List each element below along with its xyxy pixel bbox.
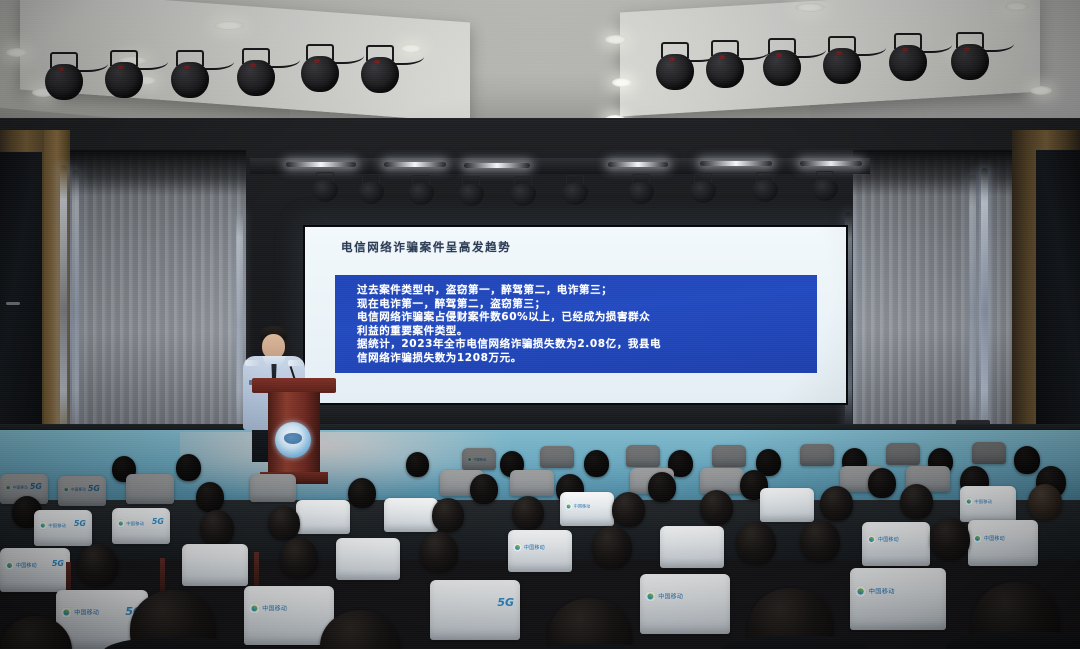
audience-head bbox=[432, 498, 464, 532]
audience-chair: 中国移动 5G bbox=[34, 510, 92, 546]
audience-chair bbox=[126, 474, 174, 504]
china-mobile-logo-icon bbox=[867, 535, 876, 544]
audience-head bbox=[584, 450, 609, 477]
chair-5g-label: 5G bbox=[88, 484, 100, 493]
slide-content-box: 过去案件类型中，盗窃第一，醉驾第二，电诈第三； 现在电诈第一，醉驾第二，盗窃第三… bbox=[335, 275, 817, 373]
china-mobile-logo-icon bbox=[117, 519, 125, 527]
audience-head bbox=[200, 510, 234, 546]
audience-shoulders bbox=[722, 636, 870, 649]
chair-brand-label: 中国移动 bbox=[74, 608, 99, 616]
chair-5g-label: 5G bbox=[497, 596, 514, 609]
chair-brand-label: 中国移动 bbox=[13, 485, 28, 490]
audience-head bbox=[78, 544, 118, 586]
slide-title: 电信网络诈骗案件呈高发趋势 bbox=[341, 239, 511, 255]
audience-chair bbox=[540, 446, 574, 468]
truss-glow-1 bbox=[286, 162, 356, 167]
china-mobile-logo-icon bbox=[63, 486, 69, 492]
audience-chair bbox=[972, 442, 1006, 464]
chair-brand-label: 中国移动 bbox=[974, 498, 992, 504]
auditorium-scene: 电信网络诈骗案件呈高发趋势 过去案件类型中，盗窃第一，醉驾第二，电诈第三； 现在… bbox=[0, 0, 1080, 649]
china-mobile-logo-icon bbox=[855, 585, 866, 596]
china-mobile-logo-icon bbox=[61, 607, 72, 618]
slide-body-line: 信网络诈骗损失数为1208万元。 bbox=[357, 352, 817, 366]
audience-head bbox=[268, 506, 300, 540]
chair-leg bbox=[254, 552, 259, 590]
truss-glow-5 bbox=[700, 161, 772, 166]
stage-light-icon bbox=[762, 38, 802, 90]
audience-chair: 中国移动 bbox=[508, 530, 572, 572]
china-mobile-logo-icon bbox=[39, 521, 47, 529]
wall-strip-light-left-2 bbox=[72, 170, 79, 450]
audience-head bbox=[736, 522, 776, 564]
stage-light-icon bbox=[950, 32, 990, 84]
presenter-epaulet-left bbox=[245, 360, 260, 366]
audience-chair: 中国移动 5G bbox=[112, 508, 170, 544]
audience-chair bbox=[800, 444, 834, 466]
slide-body-line: 电信网络诈骗案占侵财案件数60%以上，已经成为损害群众 bbox=[357, 311, 817, 325]
audience-head bbox=[900, 484, 933, 519]
stage-light-icon bbox=[458, 176, 484, 206]
chair-5g-label: 5G bbox=[152, 517, 164, 526]
chair-brand-label: 中国移动 bbox=[984, 535, 1005, 542]
china-mobile-logo-icon bbox=[513, 543, 522, 552]
ceiling-downlight-icon bbox=[1005, 2, 1029, 11]
stage-light-icon bbox=[812, 171, 838, 201]
chair-brand-label: 中国移动 bbox=[126, 520, 144, 526]
audience-head bbox=[648, 472, 676, 502]
projection-screen: 电信网络诈骗案件呈高发趋势 过去案件类型中，盗窃第一，醉驾第二，电诈第三； 现在… bbox=[303, 225, 848, 405]
audience-head bbox=[406, 452, 429, 477]
stage-light-icon bbox=[822, 36, 862, 88]
audience-chair bbox=[182, 544, 248, 586]
chair-brand-label: 中国移动 bbox=[878, 536, 899, 543]
audience-seating: 中国移动 中国移动 5G 中国移动 5G bbox=[0, 440, 1080, 649]
chair-5g-label: 5G bbox=[52, 559, 64, 568]
audience-head bbox=[548, 598, 632, 649]
china-mobile-logo-icon bbox=[5, 561, 14, 570]
stage-light-icon bbox=[510, 176, 536, 206]
stage-light-icon bbox=[705, 40, 745, 92]
audience-head bbox=[176, 454, 201, 481]
audience-head bbox=[512, 496, 544, 530]
audience-chair bbox=[760, 488, 814, 522]
audience-chair bbox=[250, 474, 296, 502]
audience-head bbox=[612, 492, 645, 527]
stage-light-icon bbox=[628, 174, 654, 204]
china-mobile-logo-icon bbox=[249, 603, 260, 614]
stage-light-icon bbox=[170, 50, 210, 102]
chair-brand-label: 中国移动 bbox=[262, 604, 287, 612]
stage-light-icon bbox=[408, 175, 434, 205]
ceiling-downlight-icon bbox=[612, 78, 632, 87]
audience-head bbox=[470, 474, 498, 504]
audience-chair bbox=[336, 538, 400, 580]
audience-chair: 中国移动 bbox=[968, 520, 1038, 566]
china-mobile-logo-icon bbox=[645, 591, 656, 602]
audience-head bbox=[930, 518, 970, 560]
slide-body-line: 利益的重要案件类型。 bbox=[357, 325, 817, 339]
wall-strip-light-right-2 bbox=[969, 175, 976, 445]
audience-head bbox=[1014, 446, 1040, 474]
chair-brand-label: 中国移动 bbox=[574, 504, 591, 510]
stage-light-icon bbox=[690, 173, 716, 203]
ceiling-downlight-icon bbox=[605, 35, 627, 44]
china-mobile-logo-icon bbox=[565, 503, 572, 510]
audience-head bbox=[700, 490, 733, 525]
audience-head bbox=[820, 486, 853, 521]
truss-glow-3 bbox=[464, 163, 530, 168]
curtain-top-shadow-left bbox=[66, 150, 246, 196]
presenter-epaulet-right bbox=[288, 360, 303, 366]
chair-brand-label: 中国移动 bbox=[16, 562, 37, 569]
stage-light-icon bbox=[358, 174, 384, 204]
stage-light-icon bbox=[888, 33, 928, 85]
chair-5g-label: 5G bbox=[30, 482, 42, 491]
chair-brand-label: 中国移动 bbox=[869, 587, 895, 596]
stage-light-icon bbox=[360, 45, 400, 97]
audience-chair: 中国移动 bbox=[960, 486, 1016, 522]
presentation-slide: 电信网络诈骗案件呈高发趋势 过去案件类型中，盗窃第一，醉驾第二，电诈第三； 现在… bbox=[305, 227, 846, 403]
truss-glow-2 bbox=[384, 162, 446, 167]
stage-light-icon bbox=[104, 50, 144, 102]
audience-chair bbox=[510, 470, 554, 496]
audience-chair bbox=[384, 498, 438, 532]
stage-light-icon bbox=[752, 172, 778, 202]
china-mobile-logo-icon bbox=[965, 497, 973, 505]
wall-strip-light-left bbox=[60, 165, 67, 455]
china-mobile-logo-icon bbox=[467, 456, 472, 461]
audience-chair bbox=[296, 500, 350, 534]
audience-chair: 中国移动 bbox=[862, 522, 930, 566]
slide-body-line: 现在电诈第一，醉驾第二，盗窃第三； bbox=[357, 298, 817, 312]
ceiling-downlight-icon bbox=[214, 21, 244, 30]
audience-shoulders bbox=[946, 632, 1080, 649]
audience-chair: 中国移动 bbox=[560, 492, 614, 526]
audience-head bbox=[800, 520, 840, 562]
china-mobile-logo-icon bbox=[5, 484, 11, 490]
truss-glow-4 bbox=[608, 162, 668, 167]
china-mobile-logo-icon bbox=[973, 534, 982, 543]
audience-shoulders bbox=[524, 644, 664, 649]
stage-light-icon bbox=[236, 48, 276, 100]
stage-light-icon bbox=[300, 44, 340, 96]
ceiling-downlight-icon bbox=[795, 3, 825, 12]
truss-glow-6 bbox=[800, 161, 862, 166]
wall-strip-light-right bbox=[981, 168, 988, 453]
audience-chair: 中国移动 bbox=[640, 574, 730, 634]
chair-5g-label: 5G bbox=[74, 519, 86, 528]
audience-chair bbox=[626, 445, 660, 467]
ceiling-downlight-icon bbox=[6, 48, 28, 57]
curtain-top-shadow-right bbox=[853, 150, 1018, 196]
audience-head bbox=[280, 538, 318, 578]
audience-chair: 中国移动 5G bbox=[0, 548, 70, 592]
audience-chair: 5G bbox=[430, 580, 520, 640]
audience-head bbox=[196, 482, 224, 512]
stage-light-icon bbox=[655, 42, 695, 94]
audience-chair bbox=[886, 443, 920, 465]
audience-chair: 中国移动 5G bbox=[58, 476, 106, 506]
audience-head bbox=[868, 468, 896, 498]
audience-chair bbox=[660, 526, 724, 568]
chair-brand-label: 中国移动 bbox=[524, 544, 545, 551]
chair-brand-label: 中国移动 bbox=[71, 487, 86, 492]
stage-light-icon bbox=[44, 52, 84, 104]
podium-top bbox=[252, 378, 336, 393]
door-right[interactable] bbox=[1036, 150, 1080, 450]
audience-chair: 中国移动 bbox=[850, 568, 946, 630]
audience-head bbox=[1028, 484, 1062, 520]
stage-light-icon bbox=[562, 175, 588, 205]
chair-brand-label: 中国移动 bbox=[48, 522, 66, 528]
audience-head bbox=[420, 532, 458, 572]
slide-body-line: 过去案件类型中，盗窃第一，醉驾第二，电诈第三； bbox=[357, 284, 817, 298]
stage-light-icon bbox=[312, 172, 338, 202]
audience-head bbox=[592, 526, 632, 568]
audience-head bbox=[348, 478, 376, 508]
audience-chair bbox=[712, 445, 746, 467]
door-left[interactable] bbox=[0, 152, 42, 452]
ceiling-downlight-icon bbox=[1030, 86, 1052, 95]
slide-body-line: 据统计，2023年全市电信网络诈骗损失数为2.08亿，我县电 bbox=[357, 338, 817, 352]
chair-brand-label: 中国移动 bbox=[474, 457, 486, 461]
chair-brand-label: 中国移动 bbox=[658, 592, 683, 600]
audience-chair: 中国移动 bbox=[462, 448, 496, 470]
